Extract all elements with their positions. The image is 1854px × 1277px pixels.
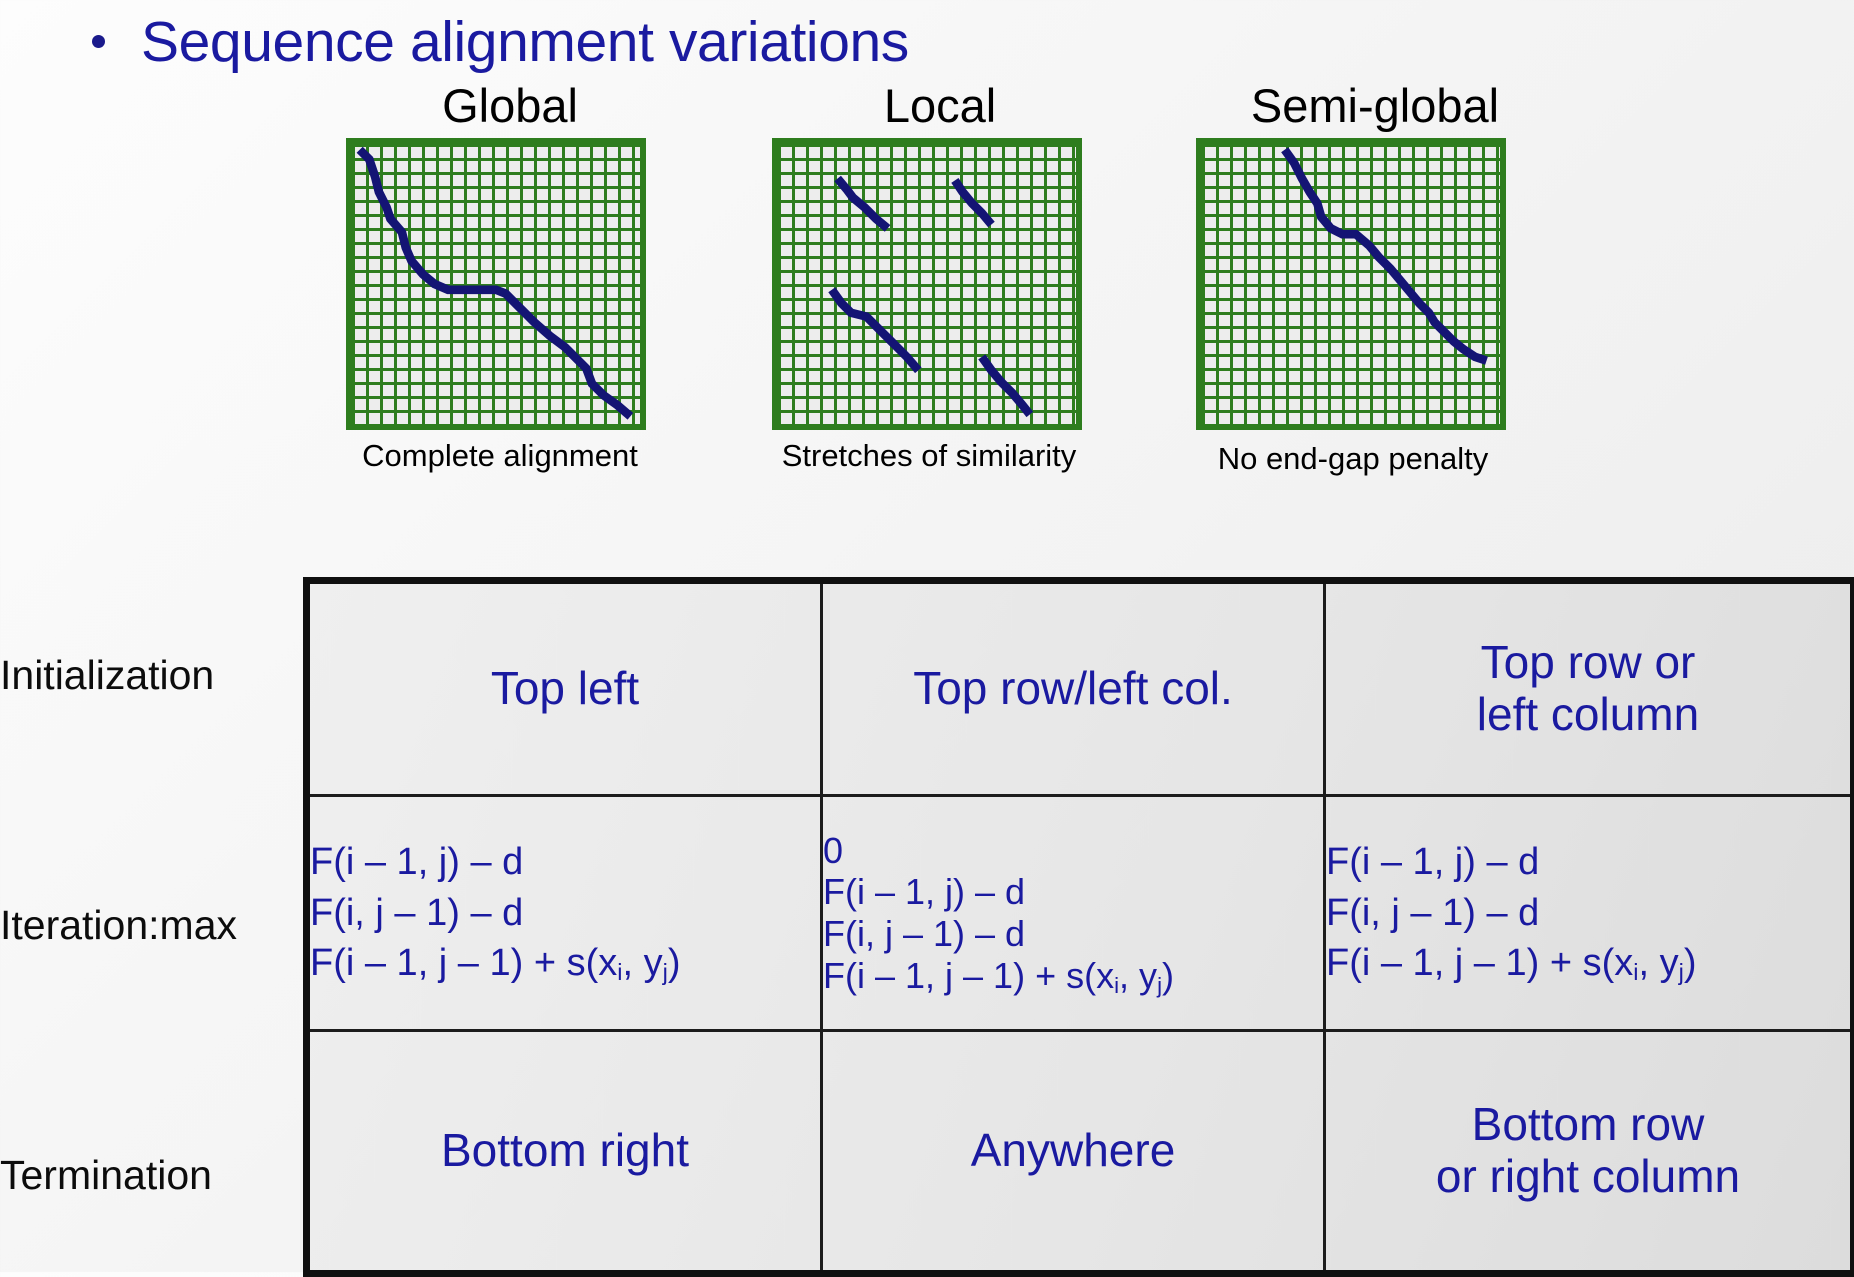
row-label-iteration: Iteration:max: [0, 905, 237, 946]
alignment-path-local-segment-1: [838, 179, 888, 229]
table-row-initialization: Top left Top row/left col. Top row or le…: [307, 581, 1854, 796]
cell-init-local-text: Top row/left col.: [823, 663, 1323, 715]
cell-init-semiglobal: Top row or left column: [1325, 581, 1854, 796]
caption-semiglobal: No end-gap penalty: [1180, 443, 1526, 474]
cell-iter-global: F(i – 1, j) – d F(i, j – 1) – d F(i – 1,…: [307, 796, 822, 1031]
cell-term-global-text: Bottom right: [310, 1125, 820, 1177]
cell-init-local: Top row/left col.: [822, 581, 1325, 796]
cell-term-global: Bottom right: [307, 1031, 822, 1274]
cell-term-semiglobal: Bottom row or right column: [1325, 1031, 1854, 1274]
panel-heading-local: Local: [760, 82, 1120, 129]
table-row-termination: Bottom right Anywhere Bottom row or righ…: [307, 1031, 1854, 1274]
alignment-matrix-global: [346, 138, 646, 430]
panel-heading-semiglobal: Semi-global: [1175, 82, 1575, 129]
cell-term-local-text: Anywhere: [823, 1125, 1323, 1177]
formula-close-global: ): [668, 942, 681, 984]
cell-term-semiglobal-line1: Bottom row: [1326, 1099, 1850, 1151]
alignment-comparison-table: Top left Top row/left col. Top row or le…: [303, 577, 1854, 1277]
row-label-initialization: Initialization: [0, 655, 214, 696]
bullet-icon: [92, 35, 105, 48]
caption-local: Stretches of similarity: [756, 440, 1102, 471]
cell-init-global-text: Top left: [310, 663, 820, 715]
panel-heading-global: Global: [330, 82, 690, 129]
cell-init-semiglobal-line2: left column: [1326, 689, 1850, 741]
formula-gap-j-local: F(i, j – 1) – d: [823, 913, 1323, 955]
alignment-path-local-segment-3: [832, 290, 919, 371]
formula-match-local: F(i – 1, j – 1) + s(xi, yj): [823, 955, 1323, 997]
formula-match-semiglobal: F(i – 1, j – 1) + s(xi, yj): [1326, 938, 1850, 989]
formula-mid-local: , y: [1119, 955, 1157, 996]
formula-close-local: ): [1162, 955, 1174, 996]
alignment-path-global-svg: [352, 144, 640, 424]
formula-match-prefix-global: F(i – 1, j – 1) + s(x: [310, 942, 617, 984]
formula-match-global: F(i – 1, j – 1) + s(xi, yj): [310, 938, 820, 989]
alignment-matrix-semiglobal: [1196, 138, 1506, 430]
formula-gap-i-local: F(i – 1, j) – d: [823, 871, 1323, 913]
alignment-path-global: [360, 150, 631, 417]
caption-global: Complete alignment: [330, 440, 670, 471]
table-row-iteration: F(i – 1, j) – d F(i, j – 1) – d F(i – 1,…: [307, 796, 1854, 1031]
alignment-path-local-svg: [778, 144, 1076, 424]
formula-match-prefix-semiglobal: F(i – 1, j – 1) + s(x: [1326, 942, 1633, 984]
alignment-path-local-segment-2: [955, 180, 992, 224]
formula-gap-j-semiglobal: F(i, j – 1) – d: [1326, 888, 1850, 939]
alignment-path-local-segment-4: [982, 357, 1030, 415]
cell-init-semiglobal-line1: Top row or: [1326, 637, 1850, 689]
row-label-termination: Termination: [0, 1155, 212, 1196]
page-title: Sequence alignment variations: [141, 14, 909, 71]
formula-mid-global: , y: [622, 942, 662, 984]
cell-init-global: Top left: [307, 581, 822, 796]
alignment-path-semiglobal: [1285, 150, 1487, 361]
formula-mid-semiglobal: , y: [1638, 942, 1678, 984]
formula-gap-i-semiglobal: F(i – 1, j) – d: [1326, 837, 1850, 888]
alignment-path-semiglobal-svg: [1202, 144, 1500, 424]
formula-close-semiglobal: ): [1684, 942, 1697, 984]
formula-match-prefix-local: F(i – 1, j – 1) + s(x: [823, 955, 1114, 996]
cell-term-local: Anywhere: [822, 1031, 1325, 1274]
formula-gap-i-global: F(i – 1, j) – d: [310, 837, 820, 888]
slide-title-row: Sequence alignment variations: [92, 14, 909, 71]
cell-term-semiglobal-line2: or right column: [1326, 1151, 1850, 1203]
alignment-matrix-local: [772, 138, 1082, 430]
cell-iter-local: 0 F(i – 1, j) – d F(i, j – 1) – d F(i – …: [822, 796, 1325, 1031]
formula-gap-j-global: F(i, j – 1) – d: [310, 888, 820, 939]
formula-zero-local: 0: [823, 830, 1323, 872]
cell-iter-semiglobal: F(i – 1, j) – d F(i, j – 1) – d F(i – 1,…: [1325, 796, 1854, 1031]
